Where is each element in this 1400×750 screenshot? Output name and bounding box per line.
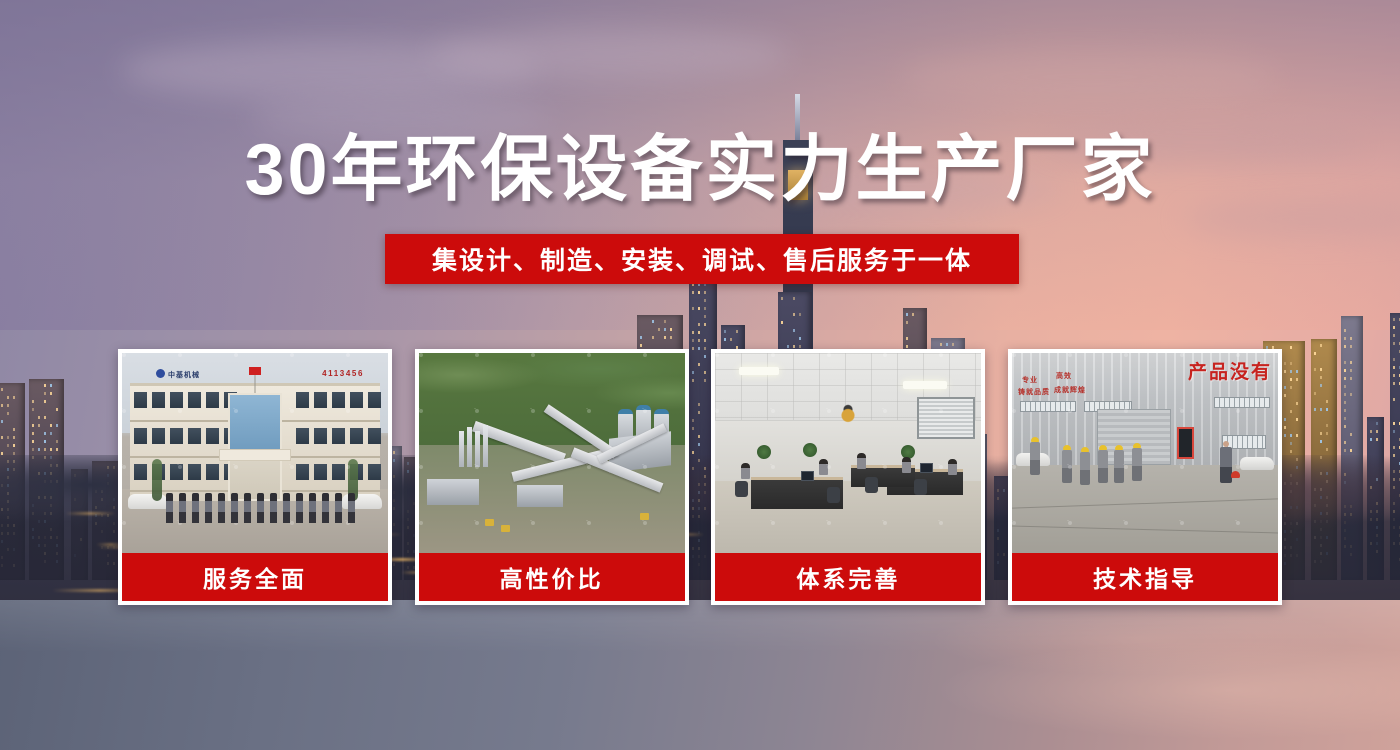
staff-figure	[348, 493, 355, 523]
facade-window	[206, 428, 219, 444]
facade-window	[314, 464, 327, 480]
facade-window	[296, 392, 309, 408]
facade-window	[368, 464, 381, 480]
office-interior-photo	[715, 353, 981, 553]
facade-window	[350, 428, 363, 444]
staff-figure	[218, 493, 225, 523]
staff-figure	[244, 493, 251, 523]
staff-figure	[335, 493, 342, 523]
staff-figure	[270, 493, 277, 523]
facade-window	[188, 464, 201, 480]
feature-card-value[interactable]: 高性价比	[415, 349, 689, 605]
card-caption-text: 技术指导	[1093, 560, 1197, 594]
facade-window	[314, 428, 327, 444]
company-sign: 中基机械	[156, 369, 200, 380]
wall-emblem	[835, 401, 861, 425]
facade-window	[134, 392, 147, 408]
facade-window	[170, 428, 183, 444]
window-blinds	[917, 397, 975, 439]
water-reflection-sheen	[0, 600, 1400, 750]
staff-figure	[309, 493, 316, 523]
card-caption-bar: 服务全面	[122, 553, 388, 601]
facade-window	[188, 428, 201, 444]
promo-banner: 30年环保设备实力生产厂家 集设计、制造、安装、调试、售后服务于一体 中基	[0, 0, 1400, 750]
facade-window	[368, 428, 381, 444]
facade-window	[134, 464, 147, 480]
page-title: 30年环保设备实力生产厂家	[0, 128, 1400, 212]
facade-window	[206, 392, 219, 408]
subtitle-text: 集设计、制造、安装、调试、售后服务于一体	[432, 241, 972, 277]
card-caption-text: 体系完善	[796, 560, 900, 594]
feature-card-training[interactable]: 产品没有 专业 高效 铸就品质 成就辉煌	[1008, 349, 1282, 605]
staff-figure	[257, 493, 264, 523]
feature-card-service[interactable]: 中基机械 4113456 服务全面	[118, 349, 392, 605]
card-caption-bar: 高性价比	[419, 553, 685, 601]
facade-window	[314, 392, 327, 408]
facade-window	[206, 464, 219, 480]
staff-figure	[231, 493, 238, 523]
workshop-training-photo: 产品没有 专业 高效 铸就品质 成就辉煌	[1012, 353, 1278, 553]
factory-wall-text: 产品没有	[1188, 357, 1272, 384]
card-caption-bar: 体系完善	[715, 553, 981, 601]
facade-window	[332, 428, 345, 444]
facade-window	[152, 392, 165, 408]
facade-window	[368, 392, 381, 408]
facade-window	[332, 464, 345, 480]
facade-window	[296, 428, 309, 444]
staff-figure	[283, 493, 290, 523]
facade-window	[350, 392, 363, 408]
subtitle-banner: 集设计、制造、安装、调试、售后服务于一体	[385, 234, 1019, 284]
staff-figure	[192, 493, 199, 523]
staff-figure	[322, 493, 329, 523]
feature-card-row: 中基机械 4113456 服务全面	[118, 349, 1282, 605]
card-caption-text: 高性价比	[500, 560, 604, 594]
red-helmet	[1231, 471, 1240, 478]
facade-window	[170, 392, 183, 408]
shore-light-strip	[65, 512, 116, 515]
facade-window	[188, 392, 201, 408]
facade-window	[332, 392, 345, 408]
staff-figure	[166, 493, 173, 523]
card-caption-text: 服务全面	[203, 560, 307, 594]
staff-figure	[296, 493, 303, 523]
production-plant-aerial-photo	[419, 353, 685, 553]
card-caption-bar: 技术指导	[1012, 553, 1278, 601]
facade-window	[152, 428, 165, 444]
building-entrance	[228, 393, 282, 501]
workshop-side-door	[1177, 427, 1194, 459]
facade-window	[134, 428, 147, 444]
facade-window	[170, 464, 183, 480]
phone-sign: 4113456	[322, 369, 364, 378]
company-headquarters-photo: 中基机械 4113456	[122, 353, 388, 553]
staff-figure	[179, 493, 186, 523]
staff-figure	[205, 493, 212, 523]
facade-window	[296, 464, 309, 480]
national-flag	[249, 367, 261, 375]
feature-card-system[interactable]: 体系完善	[711, 349, 985, 605]
